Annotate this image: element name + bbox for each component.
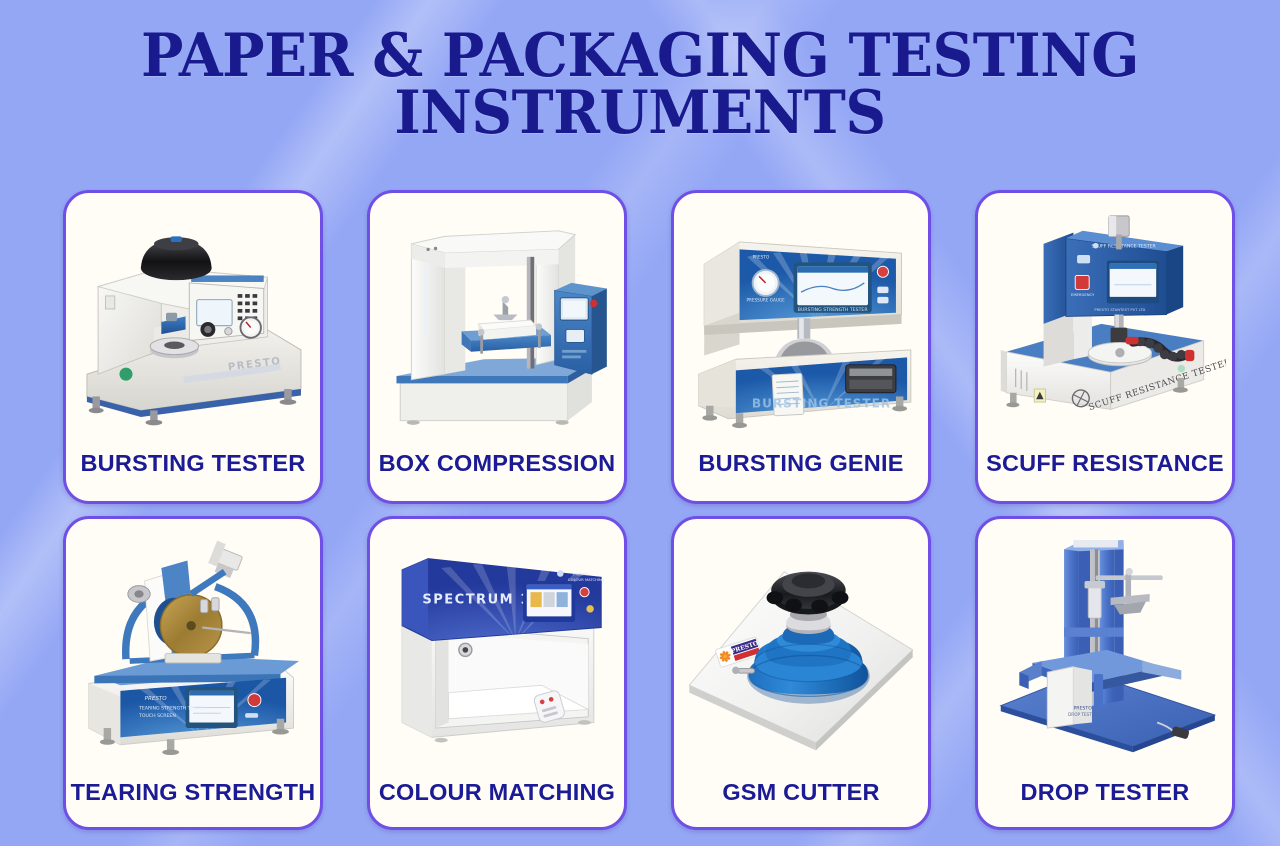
svg-text:COLOUR MATCHING: COLOUR MATCHING [568, 578, 605, 582]
card-caption-bursting-genie: BURSTING GENIE [674, 450, 928, 501]
bursting-tester-image: PRESTO [72, 199, 314, 445]
bursting-genie-illustration: BURSTING STRENGTH TESTER PRESSURE GAUGE … [680, 199, 922, 445]
drop-tester-image: PRESTO DROP TESTER [984, 525, 1226, 771]
colour-matching-illustration: SPECTRUM 1 COLOUR MATCHING PRESTO [376, 525, 618, 771]
drop-tester-illustration: PRESTO DROP TESTER [984, 525, 1226, 771]
scuff-resistance-image: SCUFF RESISTANCE TESTER [984, 199, 1226, 445]
bursting-genie-image: BURSTING STRENGTH TESTER PRESSURE GAUGE … [680, 199, 922, 445]
page-title-line-2: INSTRUMENTS [38, 85, 1241, 142]
svg-text:BURSTING STRENGTH TESTER: BURSTING STRENGTH TESTER [798, 307, 869, 313]
instrument-card-colour-matching[interactable]: SPECTRUM 1 COLOUR MATCHING PRESTO COLOUR… [367, 516, 627, 830]
svg-text:EMERGENCY: EMERGENCY [1071, 293, 1095, 297]
tearing-strength-image: PRESTO TEARING STRENGTH TESTER TOUCH SCR… [72, 525, 314, 771]
svg-text:PRESTO: PRESTO [573, 572, 588, 576]
svg-text:TEARING STRENGTH TESTER: TEARING STRENGTH TESTER [138, 705, 206, 711]
card-caption-box-compression: BOX COMPRESSION [370, 450, 624, 501]
tearing-strength-illustration: PRESTO TEARING STRENGTH TESTER TOUCH SCR… [72, 525, 314, 771]
card-caption-colour-matching: COLOUR MATCHING [370, 779, 624, 827]
svg-text:PRESTO: PRESTO [145, 696, 168, 702]
svg-text:PRESTO: PRESTO [1073, 705, 1092, 711]
card-caption-scuff-resistance: SCUFF RESISTANCE [978, 450, 1232, 501]
gsm-cutter-illustration: PRESTO [680, 525, 922, 771]
scuff-resistance-illustration: SCUFF RESISTANCE TESTER [984, 199, 1226, 445]
page-title: PAPER & PACKAGING TESTING INSTRUMENTS [38, 28, 1241, 142]
svg-text:BURSTING TESTER: BURSTING TESTER [752, 397, 891, 411]
box-compression-illustration [376, 199, 618, 445]
gsm-cutter-image: PRESTO [680, 525, 922, 771]
svg-text:SPECTRUM 1: SPECTRUM 1 [422, 592, 530, 607]
card-caption-tearing-strength: TEARING STRENGTH [66, 779, 320, 827]
box-compression-image [376, 199, 618, 445]
svg-text:PRESSURE GAUGE: PRESSURE GAUGE [746, 298, 785, 303]
svg-text:PRESTO: PRESTO [753, 255, 770, 260]
instrument-card-drop-tester[interactable]: PRESTO DROP TESTER DROP TESTER [975, 516, 1235, 830]
instrument-card-bursting-tester[interactable]: PRESTO BURSTING TESTER [63, 190, 323, 504]
instrument-card-scuff-resistance[interactable]: SCUFF RESISTANCE TESTER [975, 190, 1235, 504]
svg-text:TOUCH SCREEN: TOUCH SCREEN [138, 713, 176, 719]
instrument-card-box-compression[interactable]: BOX COMPRESSION [367, 190, 627, 504]
instrument-card-grid: PRESTO BURSTING TESTER [63, 190, 1235, 830]
instrument-card-tearing-strength[interactable]: PRESTO TEARING STRENGTH TESTER TOUCH SCR… [63, 516, 323, 830]
colour-matching-image: SPECTRUM 1 COLOUR MATCHING PRESTO [376, 525, 618, 771]
page-title-line-1: PAPER & PACKAGING TESTING [38, 28, 1241, 85]
svg-text:SCUFF RESISTANCE TESTER: SCUFF RESISTANCE TESTER [1091, 244, 1156, 250]
card-caption-drop-tester: DROP TESTER [978, 779, 1232, 827]
instrument-card-bursting-genie[interactable]: BURSTING STRENGTH TESTER PRESSURE GAUGE … [671, 190, 931, 504]
bursting-tester-illustration: PRESTO [72, 199, 314, 445]
instrument-card-gsm-cutter[interactable]: PRESTO [671, 516, 931, 830]
svg-text:DROP TESTER: DROP TESTER [1068, 712, 1097, 717]
card-caption-bursting-tester: BURSTING TESTER [66, 450, 320, 501]
svg-text:PRESTO STANTEST PVT LTD: PRESTO STANTEST PVT LTD [1094, 308, 1145, 312]
card-caption-gsm-cutter: GSM CUTTER [674, 779, 928, 827]
